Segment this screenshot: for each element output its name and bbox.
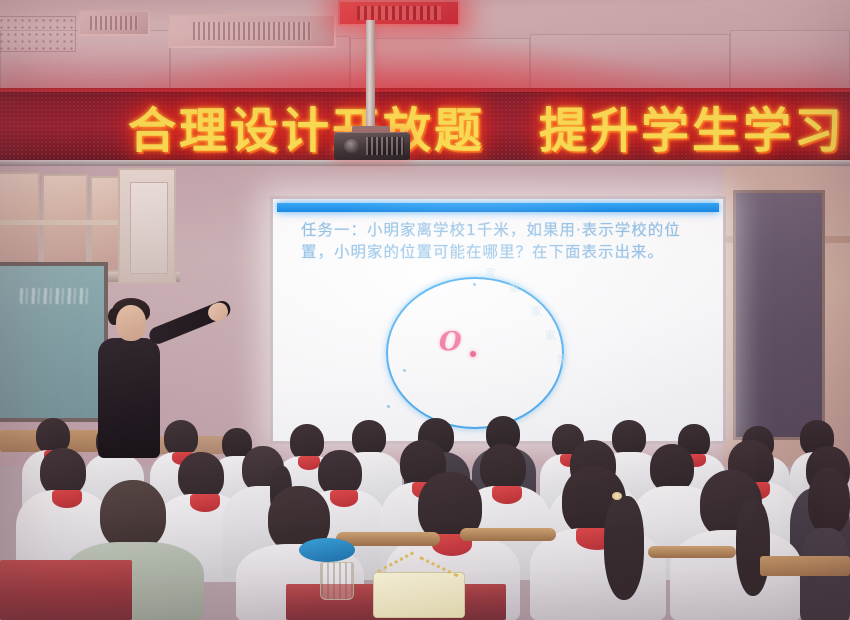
blackboard-right [733, 190, 825, 440]
faint-mark-4: 家 [557, 351, 568, 367]
chair-back-3 [648, 546, 736, 558]
teacher-head [116, 305, 146, 341]
ac-vent-center [168, 14, 336, 48]
desk-front-left [0, 560, 132, 620]
faint-mark-3: 家 [545, 327, 556, 343]
glass-cup [320, 562, 354, 600]
projection-screen: 任务一：小明家离学校1千米，如果用·表示学校的位 置，小明家的位置可能在哪里？在… [273, 199, 723, 441]
ac-vent-right [338, 0, 460, 26]
led-banner-text: 合理设计开放题 提升学生学习 [128, 92, 850, 160]
handbag [373, 572, 465, 618]
desk-right [760, 556, 850, 576]
slide-center-label: O [439, 327, 462, 357]
projector-pole [366, 20, 375, 136]
projector-lens [344, 139, 360, 153]
chair-back-2 [460, 528, 556, 541]
ac-vent-left [78, 10, 150, 36]
faint-mark-5: 家 [485, 265, 496, 281]
projector [334, 132, 410, 160]
slide-line-1: 任务一：小明家离学校1千米，如果用·表示学校的位 [301, 221, 681, 239]
led-banner-text-part2: 提升学生学习 [539, 91, 845, 161]
chalk-writing [20, 288, 90, 304]
ceiling-speaker-vent [0, 16, 76, 52]
hair-clip [612, 492, 622, 500]
classroom-photo: 合理设计开放题 提升学生学习 任务一：小明家离学校1千米，如果用·表示学校的位 … [0, 0, 850, 620]
led-scrolling-banner: 合理设计开放题 提升学生学习 [0, 88, 850, 166]
slide-line-2: 置，小明家的位置可能在哪里？在下面表示出来。 [301, 241, 705, 263]
ponytail [604, 496, 644, 600]
slide-center-dot [470, 351, 476, 357]
slide-header-bar [277, 203, 719, 212]
teacher-torso [98, 338, 160, 458]
led-banner-text-part1: 合理设计开放题 [128, 91, 485, 161]
faint-mark-1: 家 [509, 279, 520, 295]
adult-observer-head [100, 480, 166, 550]
faint-mark-2: 家 [531, 303, 542, 319]
ceiling [0, 0, 850, 96]
classroom-door [118, 168, 176, 284]
blue-bowl [299, 538, 355, 562]
slide-question-text: 任务一：小明家离学校1千米，如果用·表示学校的位 置，小明家的位置可能在哪里？在… [301, 219, 705, 263]
blackboard-left [0, 262, 108, 422]
